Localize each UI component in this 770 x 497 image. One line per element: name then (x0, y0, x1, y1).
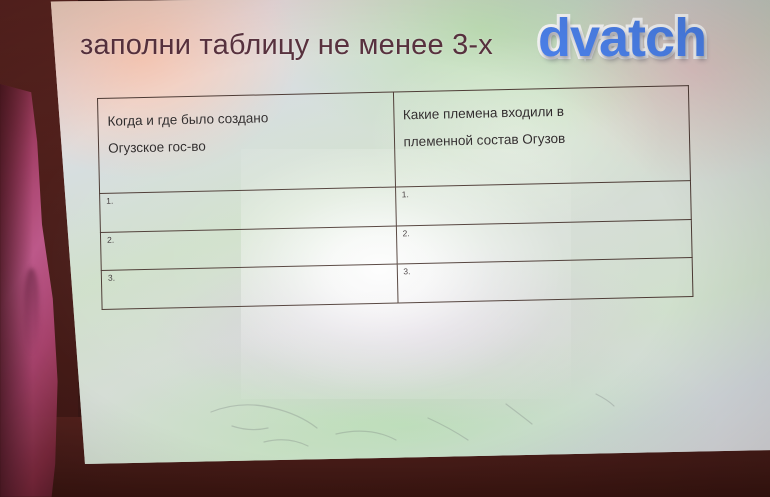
table-header-text-1: Когда и где было создано Огузское гос-во (98, 93, 394, 162)
row-number-1-col2: 1. (402, 189, 409, 199)
screenshot-root: заполни таблицу не менее 3-х Когда и где… (0, 0, 770, 497)
header-1-line-2: Огузское гос-во (108, 129, 394, 162)
worksheet-table-wrapper: Когда и где было создано Огузское гос-во… (97, 85, 694, 312)
worksheet-table: Когда и где было создано Огузское гос-во… (97, 85, 693, 310)
row-number-2-col1: 2. (107, 234, 114, 244)
row-number-3-col1: 3. (108, 273, 115, 283)
table-cell-col2-row1[interactable]: 1. (395, 180, 691, 225)
header-2-line-2: племенной состав Огузов (403, 122, 689, 155)
row-number-3-col2: 3. (403, 266, 410, 276)
table-cell-col1-row1[interactable]: 1. (100, 187, 396, 232)
person-sleeve-fold (24, 268, 39, 354)
table-header-cell-1: Когда и где было создано Огузское гос-во (98, 92, 395, 193)
table-header-cell-2: Какие племена входили в племенной состав… (393, 86, 690, 187)
table-header-text-2: Какие племена входили в племенной состав… (393, 86, 689, 155)
table-cell-col2-row2[interactable]: 2. (396, 219, 692, 264)
watermark-logo: dvatch (538, 11, 706, 65)
slide-title: заполни таблицу не менее 3-х (80, 29, 493, 62)
table-cell-col2-row3[interactable]: 3. (397, 258, 693, 303)
row-number-1-col1: 1. (106, 195, 113, 205)
row-number-2-col2: 2. (402, 228, 409, 238)
table-cell-col1-row3[interactable]: 3. (101, 264, 397, 309)
table-cell-col1-row2[interactable]: 2. (100, 226, 396, 271)
table-header-row: Когда и где было создано Огузское гос-во… (98, 86, 691, 194)
